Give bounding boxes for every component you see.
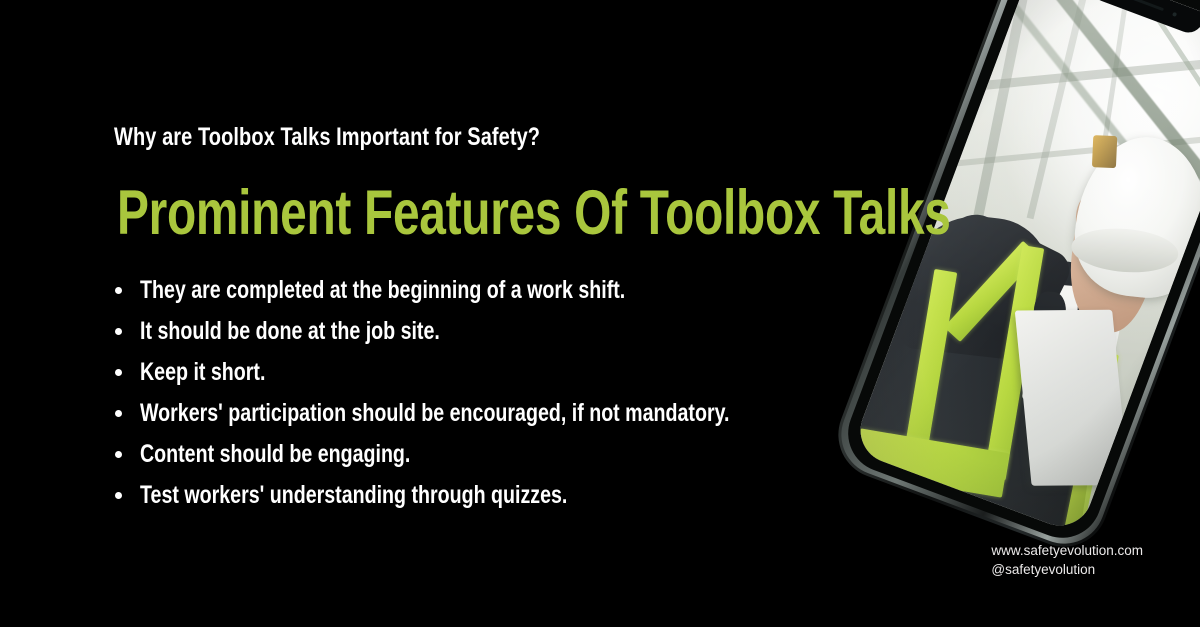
- text-content-column: Why are Toolbox Talks Important for Safe…: [114, 0, 944, 627]
- social-handle[interactable]: @safetyevolution: [991, 560, 1143, 579]
- bullet-dot-icon: [115, 492, 122, 499]
- list-item: Content should be engaging.: [114, 440, 944, 481]
- list-item-label: Test workers' understanding through quiz…: [140, 481, 771, 508]
- page-title: Prominent Features Of Toolbox Talks: [117, 180, 951, 246]
- list-item-label: Workers' participation should be encoura…: [140, 399, 771, 426]
- bullet-dot-icon: [115, 328, 122, 335]
- list-item-label: It should be done at the job site.: [140, 317, 771, 344]
- bullet-dot-icon: [115, 410, 122, 417]
- list-item: Test workers' understanding through quiz…: [114, 481, 944, 522]
- social-graphic-canvas: Why are Toolbox Talks Important for Safe…: [0, 0, 1200, 627]
- earpiece-speaker-icon: [1131, 0, 1164, 11]
- clipboard: [1015, 310, 1129, 486]
- bullet-dot-icon: [115, 369, 122, 376]
- list-item: Keep it short.: [114, 358, 944, 399]
- list-item: They are completed at the beginning of a…: [114, 276, 944, 317]
- list-item-label: Content should be engaging.: [140, 440, 771, 467]
- website-url[interactable]: www.safetyevolution.com: [991, 541, 1143, 560]
- features-bullet-list: They are completed at the beginning of a…: [114, 276, 944, 522]
- brand-footer: www.safetyevolution.com @safetyevolution: [991, 541, 1143, 579]
- list-item-label: Keep it short.: [140, 358, 771, 385]
- bullet-dot-icon: [115, 287, 122, 294]
- list-item-label: They are completed at the beginning of a…: [140, 276, 771, 303]
- list-item: It should be done at the job site.: [114, 317, 944, 358]
- eyebrow-heading: Why are Toolbox Talks Important for Safe…: [114, 124, 540, 150]
- hard-hat-lamp: [1092, 135, 1118, 168]
- front-camera-icon: [1172, 11, 1177, 16]
- list-item: Workers' participation should be encoura…: [114, 399, 944, 440]
- bullet-dot-icon: [115, 451, 122, 458]
